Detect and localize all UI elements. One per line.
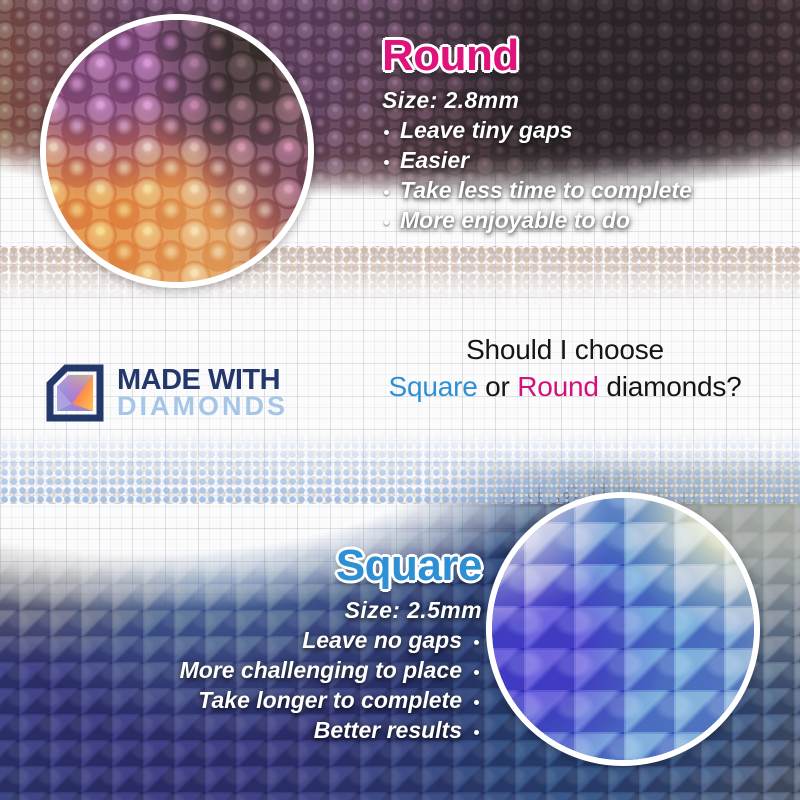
diamond-gradient-icon [46, 364, 104, 422]
round-closeup-beads-offset [40, 14, 314, 288]
square-closeup-circle [486, 492, 760, 766]
question-connector: or [478, 371, 518, 402]
round-fact-item: More enjoyable to do [382, 206, 786, 236]
brand-logo-line1: MADE WITH [117, 367, 288, 394]
round-fact-item: Easier [382, 146, 786, 176]
square-closeup-beads-offset [486, 492, 760, 766]
round-info-block: Round Size: 2.8mm Leave tiny gaps Easier… [382, 34, 786, 235]
square-fact-item: More challenging to place [32, 656, 482, 686]
question-word-round: Round [517, 371, 599, 402]
question-line-1: Should I choose [330, 332, 800, 369]
headline-question: Should I choose Square or Round diamonds… [330, 332, 800, 406]
square-title: Square [32, 544, 482, 588]
round-fact-list: Size: 2.8mm Leave tiny gaps Easier Take … [382, 86, 786, 235]
square-info-block: Square Size: 2.5mm Leave no gaps More ch… [32, 544, 482, 745]
round-size-line: Size: 2.8mm [382, 86, 786, 116]
brand-logo-text: MADE WITH DIAMONDS [117, 367, 288, 419]
center-band: MADE WITH DIAMONDS Should I choose Squar… [0, 300, 800, 440]
square-size-line: Size: 2.5mm [32, 596, 482, 626]
round-fact-item: Leave tiny gaps [382, 116, 786, 146]
round-closeup-circle [40, 14, 314, 288]
question-tail: diamonds? [599, 371, 742, 402]
question-word-square: Square [388, 371, 477, 402]
infographic-canvas: Round Size: 2.8mm Leave tiny gaps Easier… [0, 0, 800, 800]
square-fact-item: Leave no gaps [32, 626, 482, 656]
square-fact-list: Size: 2.5mm Leave no gaps More challengi… [32, 596, 482, 745]
round-title: Round [382, 34, 786, 78]
brand-logo-line2: DIAMONDS [117, 394, 288, 419]
square-fact-item: Take longer to complete [32, 686, 482, 716]
brand-logo: MADE WITH DIAMONDS [46, 364, 288, 422]
square-fact-item: Better results [32, 716, 482, 746]
question-line-2: Square or Round diamonds? [330, 369, 800, 406]
round-fact-item: Take less time to complete [382, 176, 786, 206]
